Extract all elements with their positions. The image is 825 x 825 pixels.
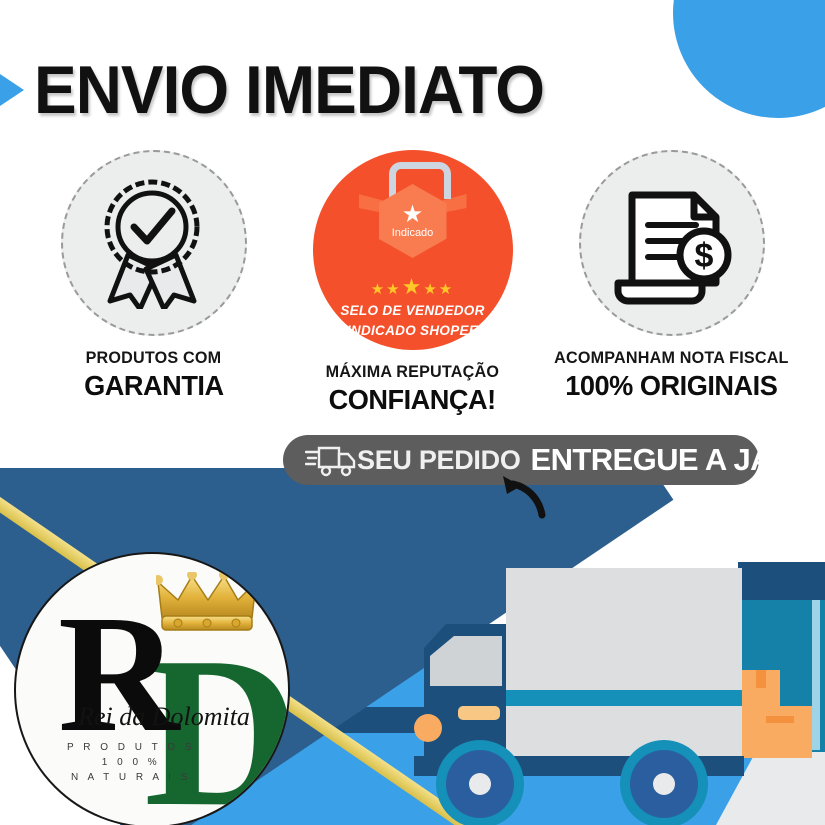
seal-line-2: INDICADO SHOPEE xyxy=(347,323,478,340)
top-right-blue-arc xyxy=(673,0,825,118)
logo-brand-name: Rei da Dolomita xyxy=(64,702,264,732)
badge-caption-large: GARANTIA xyxy=(84,370,223,402)
trust-badges-row: PRODUTOS COM GARANTIA ★ Indicado ★★★★★ xyxy=(0,150,825,415)
logo-tagline-line-3: N A T U R A I S xyxy=(56,770,206,785)
medal-star-icon: ★ xyxy=(402,203,424,227)
medal-label: Indicado xyxy=(392,228,434,239)
blue-triangle-icon xyxy=(0,74,24,106)
badge-caption-small: MÁXIMA REPUTAÇÃO xyxy=(326,362,500,382)
medal-icon: ★ Indicado xyxy=(361,164,465,268)
shopee-recommended-seal-icon: ★ Indicado ★★★★★ SELO DE VENDEDOR INDICA… xyxy=(313,150,513,350)
svg-text:$: $ xyxy=(694,237,713,275)
fast-truck-icon xyxy=(305,443,359,477)
badge-caption-large: CONFIANÇA! xyxy=(329,384,496,416)
logo-tagline: P R O D U T O S 1 0 0 % N A T U R A I S xyxy=(56,740,206,785)
delivery-text-row: SEU PEDIDO ENTREGUE A JATO xyxy=(357,435,811,485)
curved-up-arrow-icon xyxy=(495,472,555,520)
delivery-pill-label: SEU PEDIDO xyxy=(357,445,521,476)
badge-disc: $ xyxy=(579,150,765,336)
page-title: ENVIO IMEDIATO xyxy=(34,56,544,124)
headline-row: ENVIO IMEDIATO xyxy=(0,52,640,128)
badge-garantia: PRODUTOS COM GARANTIA xyxy=(29,150,279,402)
logo-tagline-line-1: P R O D U T O S xyxy=(56,740,206,755)
logo-tagline-line-2: 1 0 0 % xyxy=(56,755,206,770)
gold-crown-icon xyxy=(156,572,260,634)
award-ribbon-check-icon xyxy=(90,177,218,309)
badge-nota-fiscal: $ ACOMPANHAM NOTA FISCAL 100% ORIGINAIS xyxy=(547,150,797,402)
brand-logo: D R Rei da Dolomita P R O D U T O S 1 xyxy=(14,552,290,825)
star-rating: ★★★★★ xyxy=(371,274,455,300)
badge-caption-small: PRODUTOS COM xyxy=(86,348,222,368)
badge-confianca: ★ Indicado ★★★★★ SELO DE VENDEDOR INDICA… xyxy=(288,150,538,416)
promo-banner: ENVIO IMEDIATO PRODUTOS COM GARANTIA xyxy=(0,0,825,825)
badge-caption-large: 100% ORIGINAIS xyxy=(565,370,777,402)
badge-caption-small: ACOMPANHAM NOTA FISCAL xyxy=(554,348,788,368)
invoice-dollar-document-icon: $ xyxy=(608,179,736,307)
badge-disc xyxy=(61,150,247,336)
delivery-truck-with-boxes-illustration xyxy=(368,520,825,825)
seal-line-1: SELO DE VENDEDOR xyxy=(340,303,484,320)
delivery-outside-label: ENTREGUE A JATO xyxy=(531,442,811,478)
